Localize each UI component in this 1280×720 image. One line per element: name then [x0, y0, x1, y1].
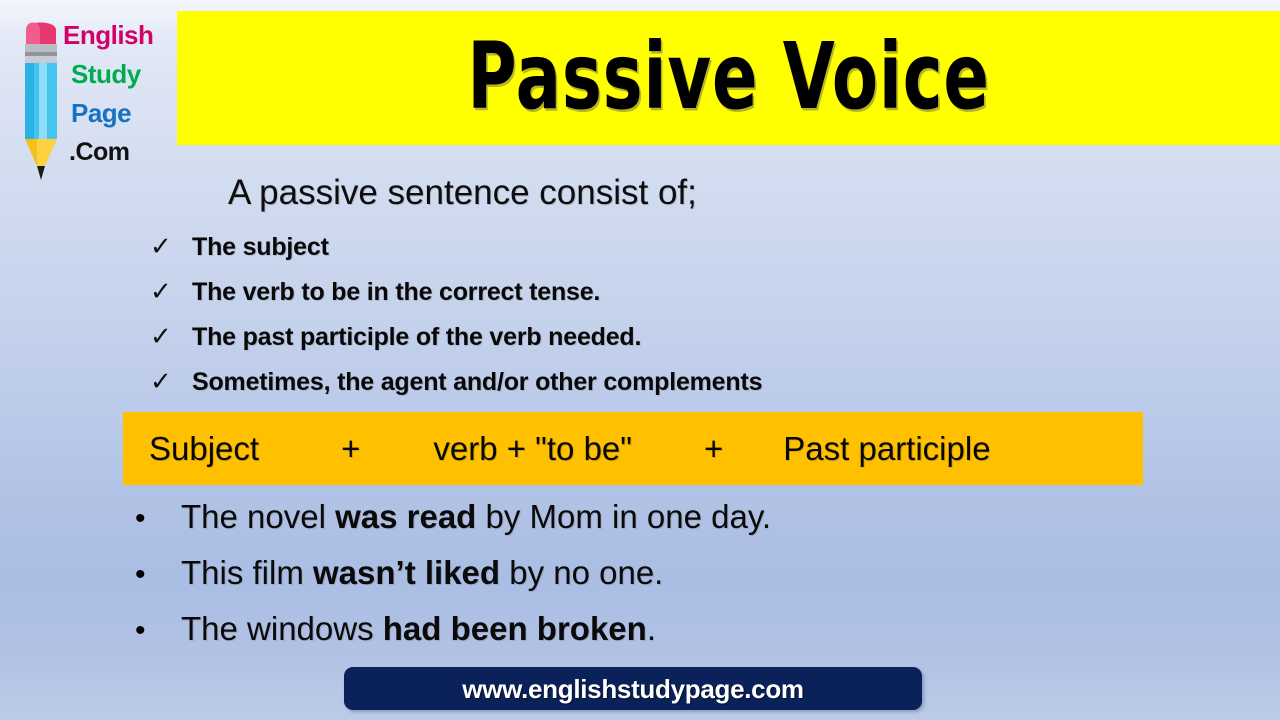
example-prefix: The novel — [181, 498, 335, 535]
list-item-label: The verb to be in the correct tense. — [192, 277, 600, 307]
website-url: www.englishstudypage.com — [462, 674, 803, 704]
example-passive-verb: wasn’t liked — [313, 554, 500, 591]
example-sentence: The novel was read by Mom in one day. — [181, 497, 771, 537]
formula-verb-to-be: verb + "to be" — [433, 430, 632, 468]
formula-past-participle: Past participle — [783, 430, 990, 468]
check-icon: ✓ — [150, 231, 192, 261]
website-banner[interactable]: www.englishstudypage.com — [344, 667, 922, 710]
formula-plus-first: + — [341, 430, 360, 468]
list-item: ✓ Sometimes, the agent and/or other comp… — [150, 366, 1150, 411]
logo-wordmark: English Study Page .Com — [63, 16, 181, 172]
title-banner: Passive Voice — [177, 11, 1280, 145]
bullet-icon: • — [135, 555, 181, 595]
subtitle-text: A passive sentence consist of; — [228, 172, 697, 214]
list-item-label: The past participle of the verb needed. — [192, 322, 641, 352]
check-icon: ✓ — [150, 366, 192, 396]
example-suffix: . — [647, 610, 656, 647]
list-item: • The windows had been broken. — [135, 609, 1185, 665]
logo-line-page: Page — [63, 94, 181, 133]
list-item: • This film wasn’t liked by no one. — [135, 553, 1185, 609]
list-item-label: The subject — [192, 232, 329, 262]
bullet-icon: • — [135, 499, 181, 539]
formula-subject: Subject — [149, 430, 259, 468]
example-passive-verb: had been broken — [383, 610, 647, 647]
requirements-list: ✓ The subject ✓ The verb to be in the co… — [150, 231, 1150, 411]
list-item: ✓ The past participle of the verb needed… — [150, 321, 1150, 366]
logo-line-com: .Com — [63, 133, 181, 172]
example-prefix: The windows — [181, 610, 383, 647]
slide-canvas: English Study Page .Com Passive Voice A … — [0, 0, 1280, 720]
list-item-label: Sometimes, the agent and/or other comple… — [192, 367, 762, 397]
page-title: Passive Voice — [467, 32, 990, 124]
list-item: ✓ The verb to be in the correct tense. — [150, 276, 1150, 321]
example-sentences: • The novel was read by Mom in one day. … — [135, 497, 1185, 665]
check-icon: ✓ — [150, 321, 192, 351]
logo-line-study: Study — [63, 55, 181, 94]
list-item: ✓ The subject — [150, 231, 1150, 276]
check-icon: ✓ — [150, 276, 192, 306]
example-suffix: by no one. — [500, 554, 663, 591]
formula-plus-second: + — [704, 430, 723, 468]
example-sentence: This film wasn’t liked by no one. — [181, 553, 663, 593]
logo-line-english: English — [63, 16, 181, 55]
formula-banner: Subject + verb + "to be" + Past particip… — [123, 412, 1143, 485]
example-passive-verb: was read — [335, 498, 476, 535]
example-sentence: The windows had been broken. — [181, 609, 656, 649]
example-prefix: This film — [181, 554, 313, 591]
pencil-icon — [20, 14, 62, 182]
example-suffix: by Mom in one day. — [476, 498, 771, 535]
bullet-icon: • — [135, 611, 181, 651]
site-logo: English Study Page .Com — [8, 6, 180, 182]
list-item: • The novel was read by Mom in one day. — [135, 497, 1185, 553]
